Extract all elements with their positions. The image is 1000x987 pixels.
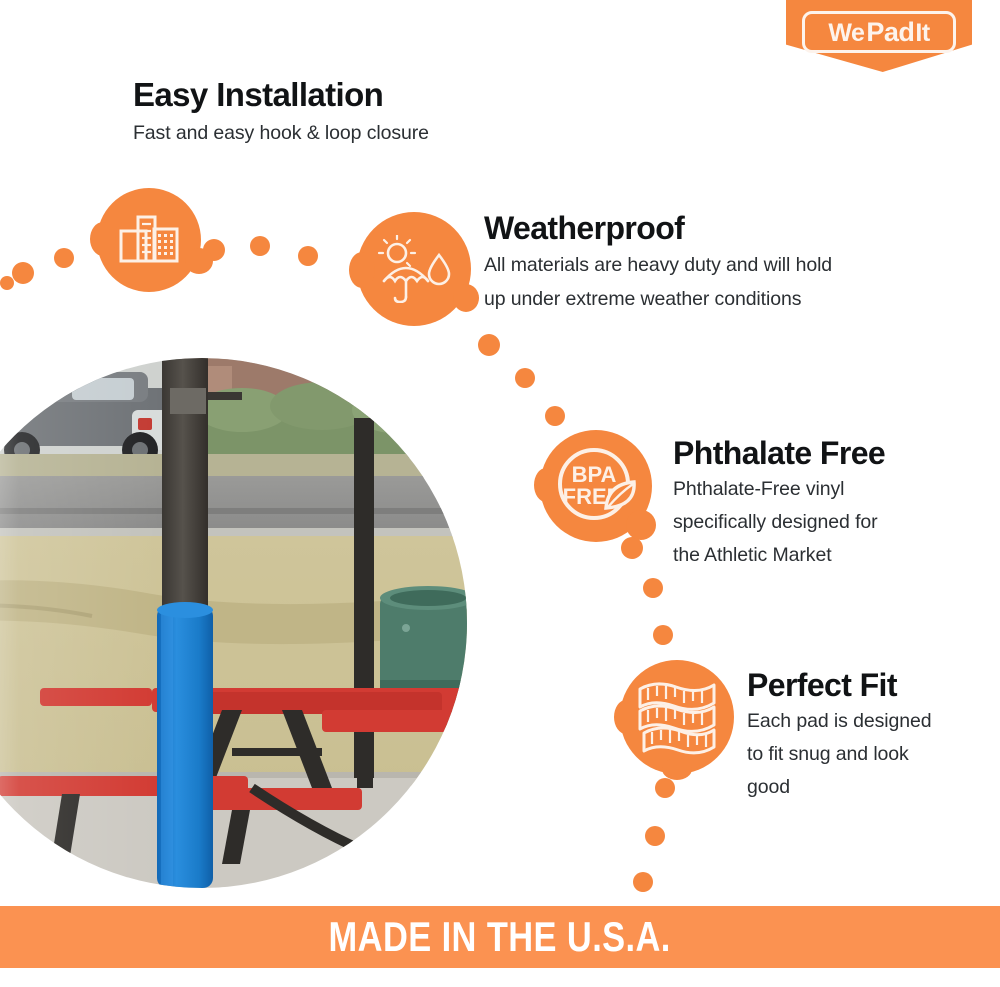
feature-description-line-1: Each pad is designed: [747, 709, 987, 735]
circle-lump: [453, 284, 479, 312]
banner-text: MADE IN THE U.S.A.: [329, 913, 671, 961]
feature-weatherproof: Weatherproof All materials are heavy dut…: [484, 212, 914, 313]
path-dot: [545, 406, 565, 426]
circle-lump: [534, 468, 558, 502]
logo-text-we: We: [828, 21, 864, 46]
path-dot: [54, 248, 74, 268]
bpa-free-leaf-icon: BPA FREE: [540, 430, 652, 542]
feature-description-line-2: specifically designed for: [673, 510, 983, 536]
feature-phthalate-free: Phthalate Free Phthalate-Free vinyl spec…: [673, 437, 983, 569]
feature-title: Perfect Fit: [747, 669, 987, 702]
infographic-canvas: WePadIt: [0, 0, 1000, 987]
building-icon: [97, 188, 201, 292]
path-dot: [655, 778, 675, 798]
logo-text-pad: Pad: [866, 19, 914, 46]
circle-lump: [662, 758, 692, 780]
path-dot: [643, 578, 663, 598]
sun-umbrella-raindrop-icon: [357, 212, 471, 326]
circle-lump: [185, 248, 213, 274]
circle-lump: [90, 222, 116, 256]
path-dot: [633, 872, 653, 892]
path-dot: [298, 246, 318, 266]
made-in-usa-banner: MADE IN THE U.S.A.: [0, 906, 1000, 968]
circle-lump: [614, 700, 638, 734]
path-dot: [478, 334, 500, 356]
path-dot: [12, 262, 34, 284]
circle-lump: [349, 252, 375, 288]
path-dot: [0, 276, 14, 290]
feature-perfect-fit: Perfect Fit Each pad is designed to fit …: [747, 669, 987, 801]
feature-description-line-1: All materials are heavy duty and will ho…: [484, 253, 914, 279]
circle-lump: [626, 510, 656, 540]
path-dot: [645, 826, 665, 846]
feature-description-line-2: to fit snug and look: [747, 742, 987, 768]
feature-description-line-3: the Athletic Market: [673, 543, 983, 569]
feature-easy-installation: Easy Installation Fast and easy hook & l…: [133, 78, 603, 147]
logo-text-it: It: [915, 21, 929, 46]
measuring-tape-icon: [620, 660, 734, 774]
feature-title: Phthalate Free: [673, 437, 983, 470]
product-photo: [0, 358, 502, 888]
feature-description-line-2: up under extreme weather conditions: [484, 287, 914, 313]
product-photo-illustration: [0, 358, 502, 888]
logo-outline: WePadIt: [802, 11, 956, 53]
feature-description-line-3: good: [747, 775, 987, 801]
path-dot: [621, 537, 643, 559]
logo-text: WePadIt: [828, 19, 929, 46]
brand-logo: WePadIt: [786, 0, 972, 72]
feature-title: Weatherproof: [484, 212, 914, 245]
path-dot: [250, 236, 270, 256]
feature-title: Easy Installation: [133, 78, 603, 112]
path-dot: [515, 368, 535, 388]
path-dot: [653, 625, 673, 645]
feature-description-line-1: Phthalate-Free vinyl: [673, 477, 983, 503]
feature-description: Fast and easy hook & loop closure: [133, 121, 603, 147]
